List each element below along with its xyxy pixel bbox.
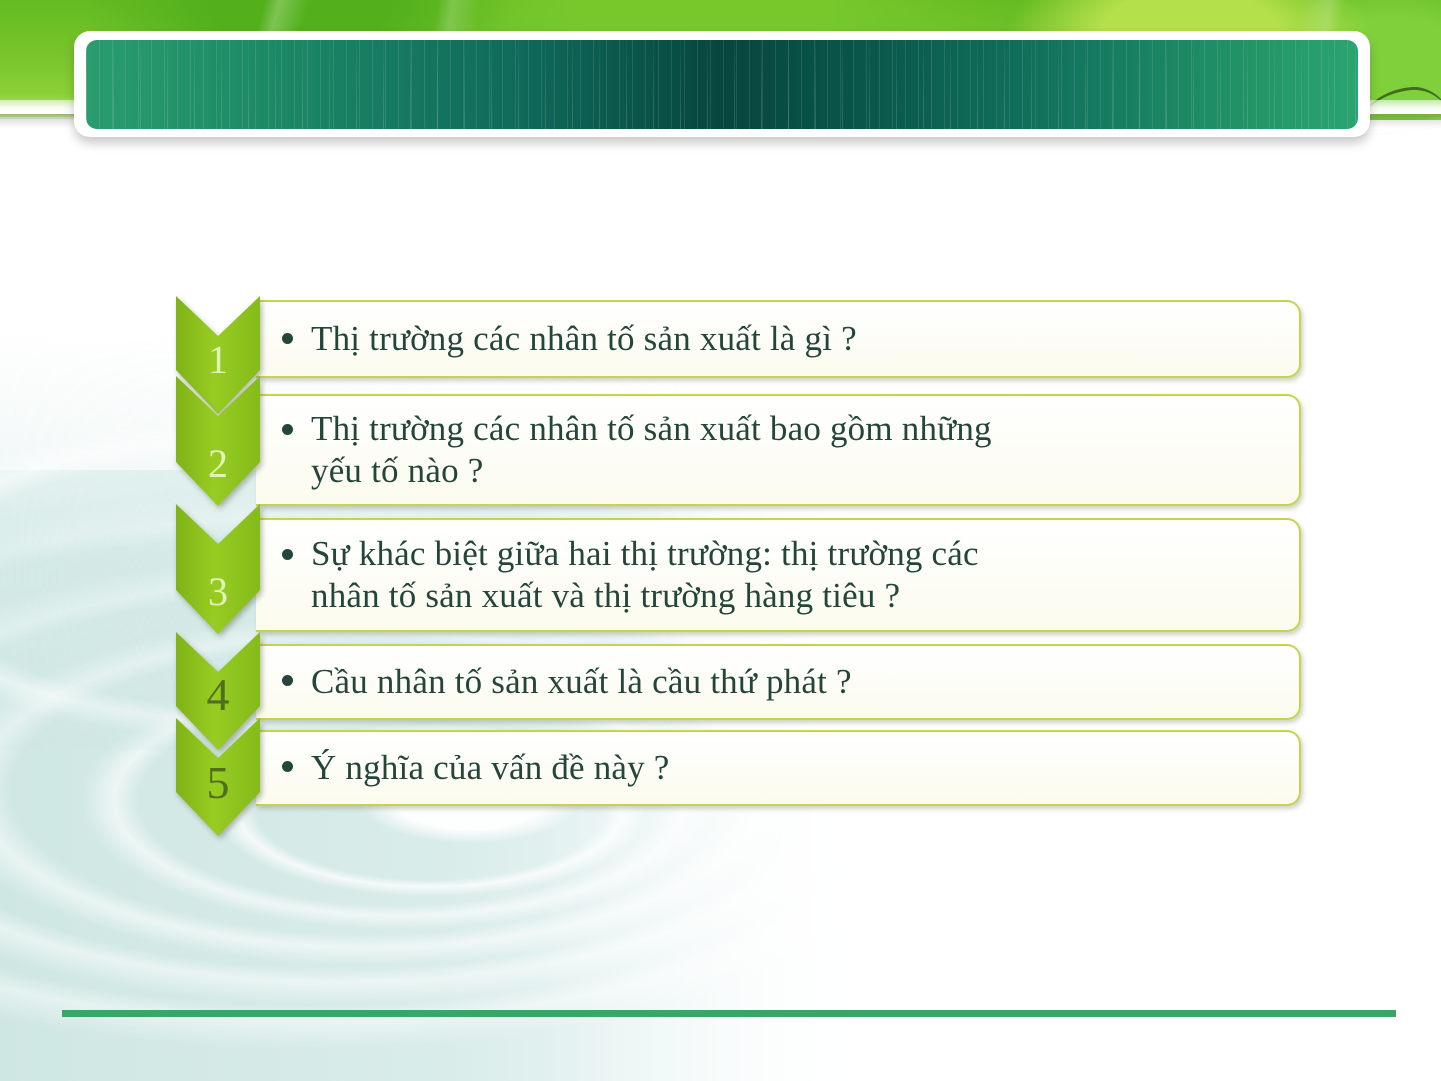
title-bar: [86, 40, 1358, 129]
bullet-point-icon: [282, 424, 293, 435]
question-text: Thị trường các nhân tố sản xuất bao gồm …: [311, 408, 992, 492]
question-text: Thị trường các nhân tố sản xuất là gì ?: [311, 318, 857, 360]
slide-title: [126, 40, 1338, 129]
question-box-2[interactable]: Thị trường các nhân tố sản xuất bao gồm …: [256, 394, 1301, 506]
chevron-arrow-icon-3: [176, 504, 260, 634]
question-box-5[interactable]: Ý nghĩa của vấn đề này ?: [256, 730, 1301, 806]
chevron-arrow-icon-2: [176, 376, 260, 506]
question-text: Cầu nhân tố sản xuất là cầu thứ phát ?: [311, 661, 852, 703]
bullet-point-icon: [282, 333, 293, 344]
slide-canvas: 1 Thị trường các nhân tố sản xuất là gì …: [0, 0, 1441, 1081]
question-text: Ý nghĩa của vấn đề này ?: [311, 747, 670, 789]
bullet-point-icon: [282, 549, 293, 560]
chevron-arrow-icon-5: [176, 718, 260, 836]
footer-divider: [62, 1010, 1396, 1017]
bullet-point-icon: [282, 675, 293, 686]
question-box-1[interactable]: Thị trường các nhân tố sản xuất là gì ?: [256, 300, 1301, 378]
question-text: Sự khác biệt giữa hai thị trường: thị tr…: [311, 533, 979, 617]
bullet-point-icon: [282, 761, 293, 772]
question-box-3[interactable]: Sự khác biệt giữa hai thị trường: thị tr…: [256, 518, 1301, 632]
question-box-4[interactable]: Cầu nhân tố sản xuất là cầu thứ phát ?: [256, 644, 1301, 720]
